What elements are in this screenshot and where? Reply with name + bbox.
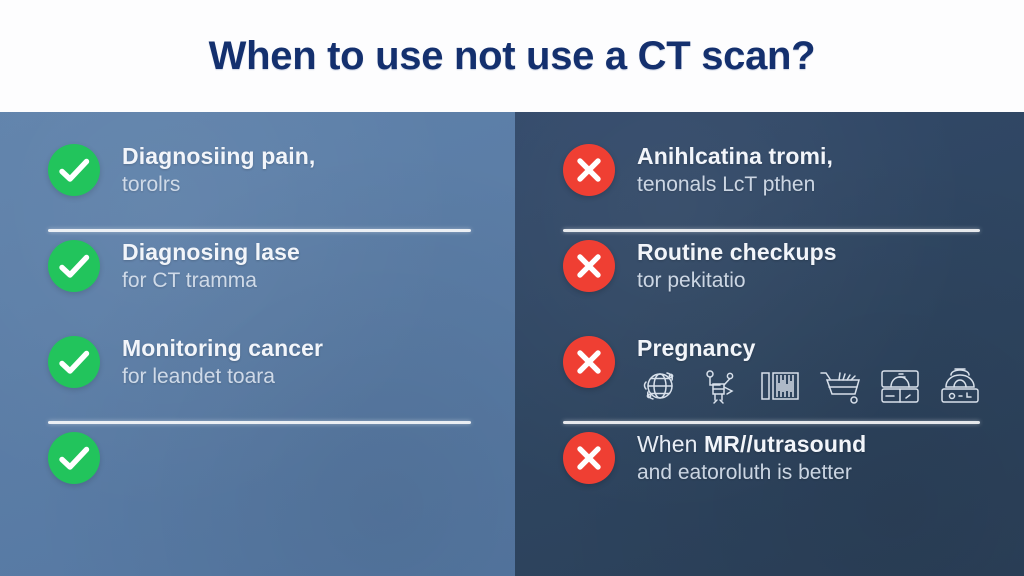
list-item: Routine checkups tor pekitatio [563,228,984,324]
left-column-when-to-use: Diagnosiing pain, torolrs Diagnosing las… [0,112,515,576]
list-item-text: Diagnosiing pain, torolrs [122,142,475,197]
list-item-primary: Diagnosing lase [122,239,475,266]
list-item-primary-prefix: When [637,431,704,457]
list-item-secondary: and eatoroluth is better [637,460,984,485]
list-item-secondary: tenonals LcT pthen [637,172,984,197]
list-item-text: Pregnancy [637,334,984,409]
brain-scan-icon [637,363,683,409]
list-item-secondary: for leandet toara [122,364,475,389]
list-item-primary: Routine checkups [637,239,984,266]
list-item: Anihlcatina tromi, tenonals LcT pthen [563,132,984,228]
list-item: Monitoring cancer for leandet toara [48,324,475,420]
list-item-primary-emphasis: MR//utrasound [704,431,866,457]
appliance-kettle-icon [937,363,983,409]
list-item-primary: Pregnancy [637,335,984,362]
list-item: Diagnosiing pain, torolrs [48,132,475,228]
slide-canvas: When to use not use a CT scan? Diagnosii… [0,0,1024,576]
medical-icon-strip [637,363,984,409]
list-item-text: When MR//utrasound and eatoroluth is bet… [637,430,984,485]
check-circle-icon [48,336,100,388]
scanner-machine-icon [877,363,923,409]
list-item-secondary: tor pekitatio [637,268,984,293]
cart-basket-icon [817,363,863,409]
list-item-text: Diagnosing lase for CT tramma [122,238,475,293]
check-circle-icon [48,144,100,196]
x-circle-icon [563,240,615,292]
slide-header: When to use not use a CT scan? [0,0,1024,112]
list-item-text: Routine checkups tor pekitatio [637,238,984,293]
check-circle-icon [48,432,100,484]
list-item: When MR//utrasound and eatoroluth is bet… [563,420,984,516]
x-circle-icon [563,144,615,196]
list-item-secondary: for CT tramma [122,268,475,293]
x-circle-icon [563,336,615,388]
list-item-text: Monitoring cancer for leandet toara [122,334,475,389]
list-item-text: Anihlcatina tromi, tenonals LcT pthen [637,142,984,197]
list-item-text [122,430,475,433]
list-item: Diagnosing lase for CT tramma [48,228,475,324]
list-item-primary: Monitoring cancer [122,335,475,362]
two-column-body: Diagnosiing pain, torolrs Diagnosing las… [0,112,1024,576]
barcode-panel-icon [757,363,803,409]
list-item-primary: Diagnosiing pain, [122,143,475,170]
list-item-primary: When MR//utrasound [637,431,984,458]
right-column-when-not-to-use: Anihlcatina tromi, tenonals LcT pthen Ro… [515,112,1024,576]
molecule-figure-icon [697,363,743,409]
page-title: When to use not use a CT scan? [209,34,816,79]
left-column-list: Diagnosiing pain, torolrs Diagnosing las… [0,112,515,516]
list-item-primary: Anihlcatina tromi, [637,143,984,170]
list-item [48,420,475,516]
x-circle-icon [563,432,615,484]
list-item-secondary: torolrs [122,172,475,197]
check-circle-icon [48,240,100,292]
right-column-list: Anihlcatina tromi, tenonals LcT pthen Ro… [515,112,1024,516]
list-item: Pregnancy [563,324,984,420]
